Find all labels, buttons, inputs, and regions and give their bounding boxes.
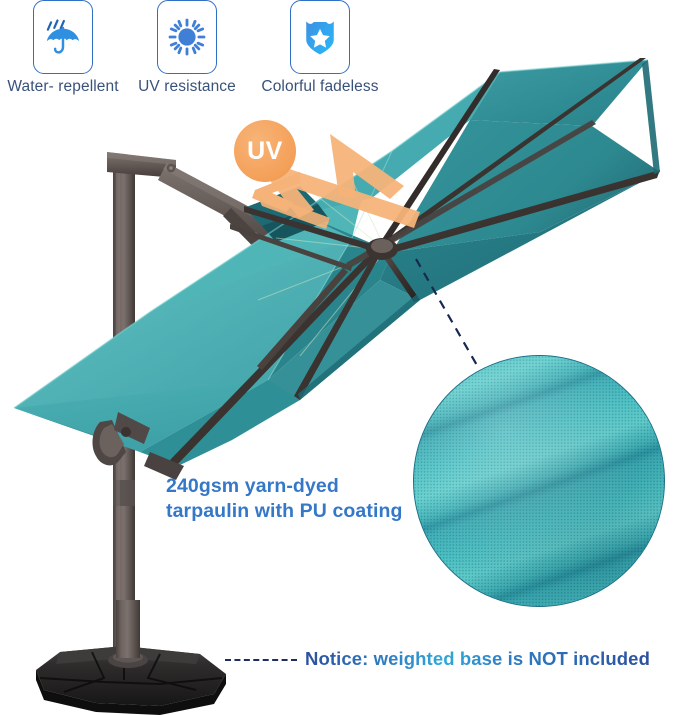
product-feature-image: Water- repellent — [0, 0, 679, 715]
fabric-shading — [414, 356, 664, 606]
uv-badge-label: UV — [247, 137, 283, 166]
weighted-base — [36, 600, 226, 715]
fabric-callout-text: 240gsm yarn-dyed tarpaulin with PU coati… — [166, 474, 428, 524]
fabric-detail-circle — [413, 355, 665, 607]
uv-badge: UV — [234, 120, 296, 182]
notice-text: Notice: weighted base is NOT included — [305, 648, 650, 670]
fabric-callout-line1: 240gsm yarn-dyed — [166, 474, 428, 499]
fabric-callout-line2: tarpaulin with PU coating — [166, 499, 428, 524]
notice-dashed-line — [225, 659, 297, 661]
